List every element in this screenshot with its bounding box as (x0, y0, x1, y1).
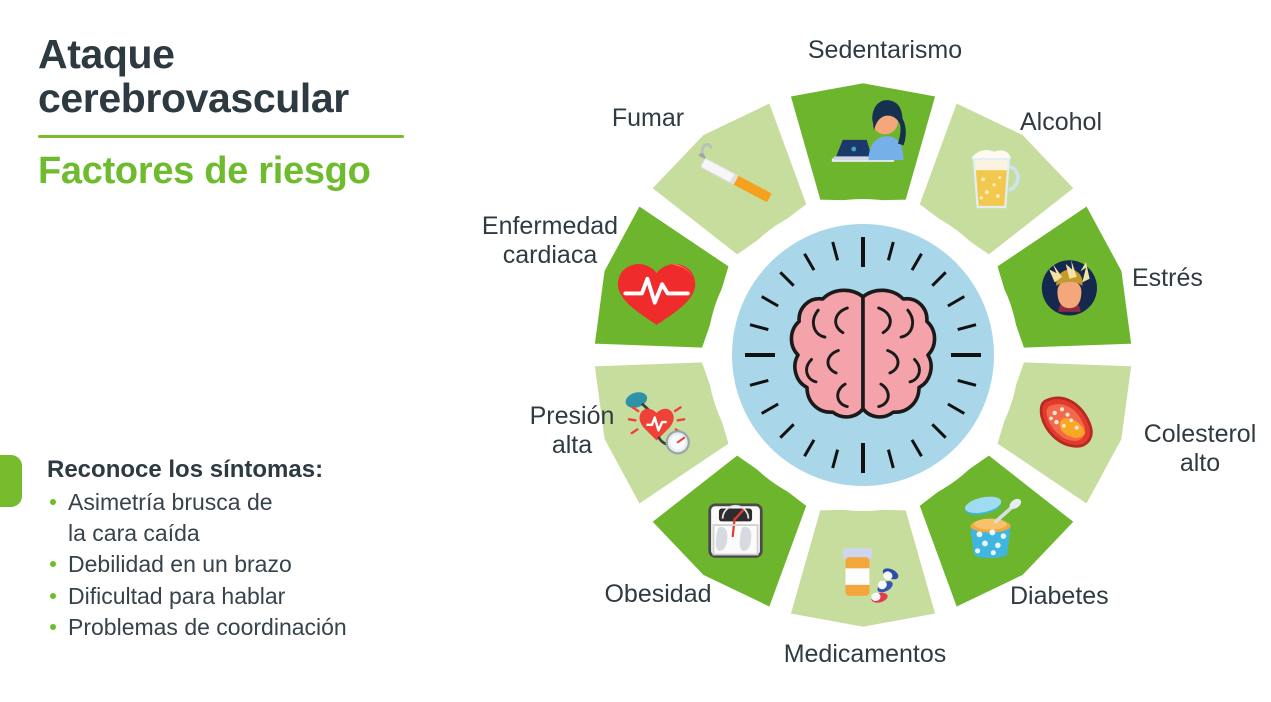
list-item-text: Asimetría brusca de la cara caída (68, 489, 273, 546)
list-item: Problemas de coordinación (47, 612, 500, 643)
brain-icon (791, 290, 934, 417)
title-block: Ataque cerebrovascular Factores de riesg… (38, 32, 438, 191)
stressed-head-icon (1042, 260, 1097, 315)
left-panel: Ataque cerebrovascular Factores de riesg… (0, 0, 520, 702)
bullet-icon (50, 561, 56, 567)
list-item: Asimetría brusca de la cara caída (47, 487, 500, 548)
risk-factor-wheel: Sedentarismo Alcohol Estrés Colesterol a… (580, 62, 1160, 652)
symptoms-heading: Reconoce los síntomas: (47, 455, 500, 485)
list-item-text: Debilidad en un brazo (68, 551, 292, 577)
list-item-text: Problemas de coordinación (68, 614, 347, 640)
accent-bar (0, 455, 22, 507)
list-item: Debilidad en un brazo (47, 549, 500, 580)
symptoms-block: Reconoce los síntomas: Asimetría brusca … (0, 455, 500, 644)
wheel-svg (580, 62, 1160, 652)
segment-label-sedentarismo: Sedentarismo (775, 36, 995, 65)
weight-scale-icon (710, 505, 762, 557)
list-item: Dificultad para hablar (47, 581, 500, 612)
list-item-text: Dificultad para hablar (68, 583, 285, 609)
title-divider (38, 135, 404, 138)
symptoms-list: Asimetría brusca de la cara caída Debili… (47, 487, 500, 643)
bullet-icon (50, 593, 56, 599)
bullet-icon (50, 499, 56, 505)
bullet-icon (50, 624, 56, 630)
page-title: Ataque cerebrovascular (38, 32, 438, 121)
page-subtitle: Factores de riesgo (38, 152, 438, 192)
